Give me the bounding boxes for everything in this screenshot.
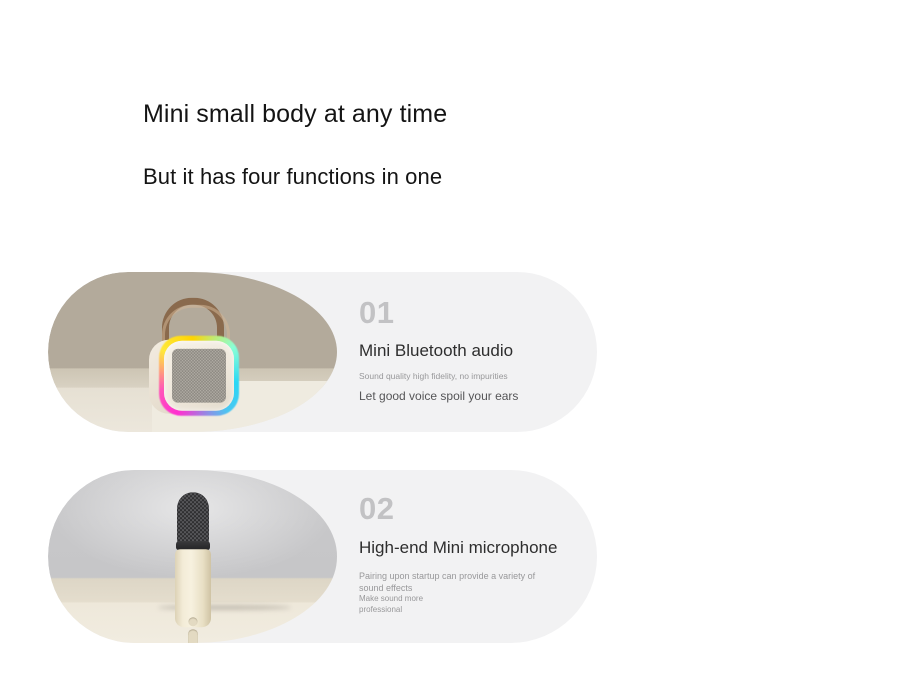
card-01-text-block: 01 Mini Bluetooth audio Sound quality hi…	[337, 297, 597, 406]
microphone-button-pill	[188, 629, 198, 643]
card-01-tagline: Let good voice spoil your ears	[359, 389, 597, 403]
card-02-text-block: 02 High-end Mini microphone Pairing upon…	[337, 493, 597, 620]
speaker-product-photo	[48, 272, 337, 432]
microphone-body	[175, 549, 211, 627]
card-01-title: Mini Bluetooth audio	[359, 341, 597, 361]
card-01-description: Sound quality high fidelity, no impuriti…	[359, 371, 509, 382]
microphone-illustration	[173, 492, 213, 627]
feature-card-02[interactable]: 02 High-end Mini microphone Pairing upon…	[48, 470, 597, 643]
page-title: Mini small body at any time	[143, 100, 447, 129]
microphone-button-top	[188, 617, 197, 626]
card-02-title: High-end Mini microphone	[359, 538, 597, 558]
card-02-number: 02	[359, 493, 597, 524]
bluetooth-speaker-illustration	[141, 298, 245, 416]
speaker-mesh-grille	[172, 349, 226, 403]
microphone-product-photo	[48, 470, 337, 643]
microphone-mesh-head	[177, 492, 209, 544]
page-headings: Mini small body at any time But it has f…	[143, 100, 447, 190]
page-subtitle: But it has four functions in one	[143, 164, 447, 190]
feature-card-01[interactable]: 01 Mini Bluetooth audio Sound quality hi…	[48, 272, 597, 432]
card-02-description-secondary: Make sound more professional	[359, 594, 427, 616]
card-01-number: 01	[359, 297, 597, 328]
card-02-description: Pairing upon startup can provide a varie…	[359, 570, 559, 594]
